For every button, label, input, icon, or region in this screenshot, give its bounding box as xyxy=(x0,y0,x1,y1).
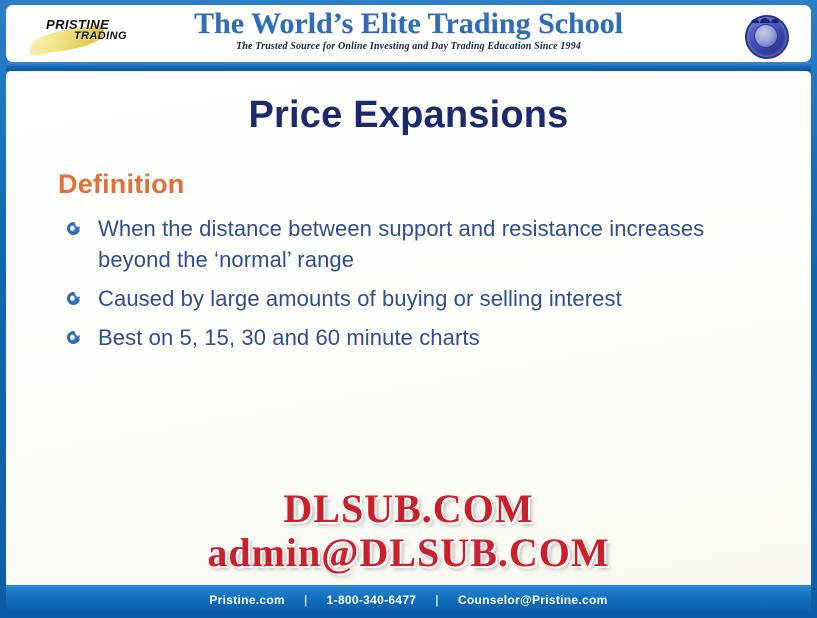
footer-phone[interactable]: 1-800-340-6477 xyxy=(327,593,417,607)
footer-email[interactable]: Counselor@Pristine.com xyxy=(458,593,608,607)
watermark-line-1: DLSUB.COM xyxy=(6,488,811,530)
footer-separator: | xyxy=(304,593,308,607)
presentation-slide: PRISTINE TRADING The World’s Elite Tradi… xyxy=(0,0,817,618)
pristine-crest-icon xyxy=(743,11,789,57)
footer-separator: | xyxy=(435,593,439,607)
list-item: Caused by large amounts of buying or sel… xyxy=(61,283,721,314)
bullet-marker-icon xyxy=(64,219,82,237)
watermark-overlay: DLSUB.COM admin@DLSUB.COM xyxy=(6,488,811,574)
crest-inner-disc xyxy=(754,24,778,48)
list-item: When the distance between support and re… xyxy=(61,213,721,275)
bullet-marker-icon xyxy=(64,328,82,346)
section-heading-definition: Definition xyxy=(58,169,811,199)
bullet-marker-icon xyxy=(64,289,82,307)
slide-content: Price Expansions Definition When the dis… xyxy=(6,71,811,585)
footer-contact-bar: Pristine.com | 1-800-340-6477 | Counselo… xyxy=(209,593,607,607)
pristine-trading-logo: PRISTINE TRADING xyxy=(30,16,150,52)
list-item-text: Best on 5, 15, 30 and 60 minute charts xyxy=(98,325,480,350)
list-item: Best on 5, 15, 30 and 60 minute charts xyxy=(61,322,721,353)
header-divider xyxy=(6,62,811,71)
page-title: Price Expansions xyxy=(6,93,811,137)
footer-website[interactable]: Pristine.com xyxy=(209,593,285,607)
logo-text-line2: TRADING xyxy=(74,30,127,42)
slide-header: PRISTINE TRADING The World’s Elite Tradi… xyxy=(6,5,811,62)
list-item-text: When the distance between support and re… xyxy=(98,216,704,272)
slide-footer: Pristine.com | 1-800-340-6477 | Counselo… xyxy=(6,585,811,614)
crest-crown xyxy=(751,11,779,23)
watermark-line-2: admin@DLSUB.COM xyxy=(6,532,811,574)
bullet-list: When the distance between support and re… xyxy=(61,213,721,353)
list-item-text: Caused by large amounts of buying or sel… xyxy=(98,286,622,311)
